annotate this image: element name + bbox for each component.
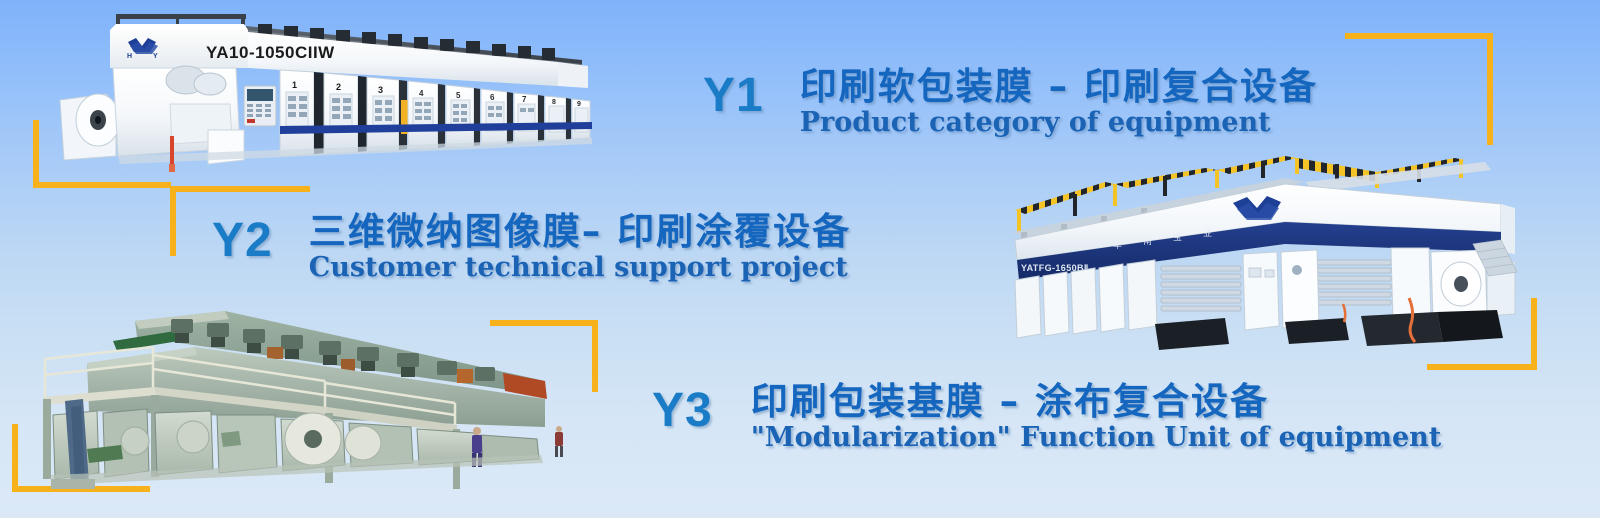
bracket-segment-horizontal — [1345, 33, 1493, 39]
svg-text:H: H — [127, 53, 132, 60]
press-model-label: YA10-1050CIIW — [206, 43, 335, 62]
row-code-y1: Y1 — [703, 70, 764, 122]
bracket-top-right — [1345, 33, 1495, 148]
row-y3: Y3 印刷包装基膜 – 涂布复合设备 "Modularization" Func… — [652, 385, 1441, 453]
svg-text:华: 华 — [1113, 239, 1122, 251]
svg-text:3: 3 — [378, 85, 383, 95]
bracket-segment-vertical — [170, 186, 176, 256]
row-title-y2: 三维微纳图像膜– 印刷涂覆设备 — [309, 211, 851, 253]
row-text-y2: 三维微纳图像膜– 印刷涂覆设备 Customer technical suppo… — [309, 211, 851, 283]
svg-text:1: 1 — [292, 80, 297, 90]
machine-image-rotogravure-press: H Y YA10-1050CIIW — [58, 8, 598, 183]
bracket-segment-vertical — [592, 320, 598, 392]
bracket-segment-vertical — [33, 120, 39, 188]
rotogravure-press-illustration: H Y YA10-1050CIIW — [58, 8, 598, 183]
row-title-y3: 印刷包装基膜 – 涂布复合设备 — [751, 381, 1442, 423]
row-text-y1: 印刷软包装膜 – 印刷复合设备 Product category of equi… — [800, 66, 1318, 138]
paper-coating-line-illustration — [25, 303, 580, 493]
row-title-y1: 印刷软包装膜 – 印刷复合设备 — [800, 66, 1318, 108]
row-code-y2: Y2 — [212, 215, 273, 267]
svg-text:7: 7 — [522, 95, 527, 104]
product-category-banner: H Y YA10-1050CIIW — [0, 0, 1600, 518]
svg-text:2: 2 — [336, 82, 341, 92]
machine-image-coating-laminator: 华 南 宝 业 YATFG-1650BⅡ — [985, 148, 1520, 353]
svg-text:Y: Y — [153, 53, 158, 60]
row-subtitle-y3: "Modularization" Function Unit of equipm… — [751, 423, 1442, 453]
row-y1: Y1 印刷软包装膜 – 印刷复合设备 Product category of e… — [703, 70, 1318, 138]
bracket-segment-vertical — [12, 424, 18, 492]
svg-text:业: 业 — [1203, 228, 1212, 239]
row-y2: Y2 三维微纳图像膜– 印刷涂覆设备 Customer technical su… — [212, 215, 851, 283]
bracket-segment-horizontal — [1427, 364, 1537, 370]
coating-laminator-illustration: 华 南 宝 业 YATFG-1650BⅡ — [985, 148, 1520, 353]
bracket-segment-horizontal — [170, 186, 310, 192]
svg-text:5: 5 — [456, 91, 461, 100]
svg-text:南: 南 — [1143, 235, 1152, 247]
row-text-y3: 印刷包装基膜 – 涂布复合设备 "Modularization" Functio… — [751, 381, 1442, 453]
svg-text:8: 8 — [552, 99, 556, 106]
row-subtitle-y2: Customer technical support project — [309, 253, 851, 283]
bracket-segment-vertical — [1531, 298, 1537, 370]
svg-text:9: 9 — [577, 101, 581, 108]
row-code-y3: Y3 — [652, 385, 713, 437]
operator-figure — [555, 426, 563, 457]
bracket-segment-vertical — [1487, 33, 1493, 145]
row-subtitle-y1: Product category of equipment — [800, 108, 1318, 138]
svg-text:6: 6 — [490, 93, 495, 102]
svg-text:4: 4 — [419, 89, 424, 98]
machine-image-paper-coating-line — [25, 303, 580, 493]
svg-text:宝: 宝 — [1173, 231, 1182, 243]
